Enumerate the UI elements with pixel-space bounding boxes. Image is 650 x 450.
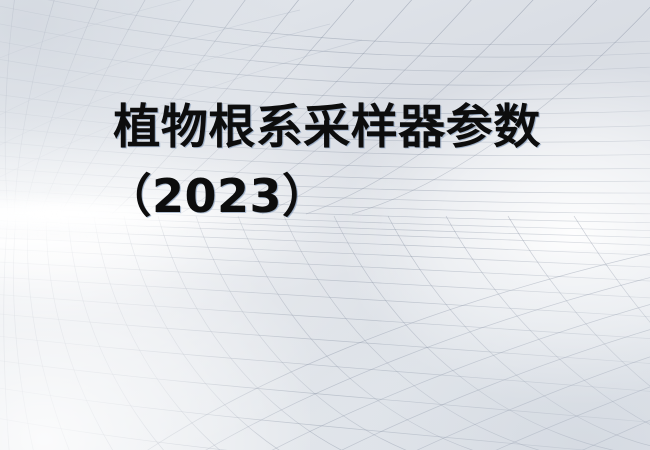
mesh-meridian-lines-lower: [4, 216, 650, 450]
mesh-latitude-lines: [0, 0, 650, 450]
presentation-slide: 植物根系采样器参数 （2023）: [0, 0, 650, 450]
shading-bottom-right: [290, 250, 650, 450]
slide-title-block: 植物根系采样器参数 （2023）: [0, 104, 650, 219]
mesh-center-wash: [0, 0, 650, 450]
slide-title-line-2: （2023）: [0, 173, 650, 219]
background-mesh-pattern: [0, 0, 650, 450]
shading-bottom-left: [0, 230, 310, 450]
mesh-svg: [0, 0, 650, 450]
mesh-diagonal-lines: [130, 250, 650, 450]
slide-title-line-1: 植物根系采样器参数: [0, 104, 650, 151]
